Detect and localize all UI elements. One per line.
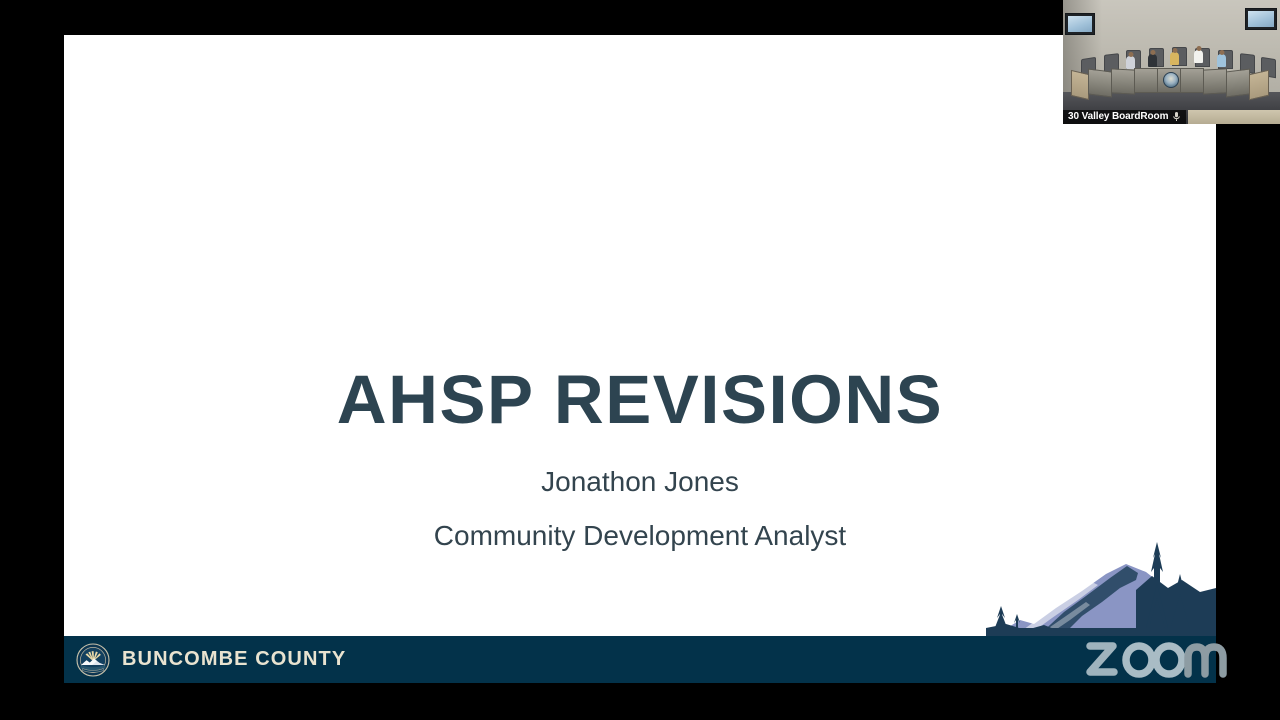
county-seal-icon xyxy=(76,643,110,677)
participant-video-thumbnail[interactable]: 30 Valley BoardRoom xyxy=(1063,0,1280,124)
shared-screen-slide[interactable]: AHSP REVISIONS Jonathon Jones Community … xyxy=(64,35,1216,683)
dais-segment xyxy=(1088,69,1112,98)
seated-person xyxy=(1170,52,1179,65)
dais-segment xyxy=(1226,69,1250,98)
dais-segment xyxy=(1203,68,1227,94)
slide-text-block: AHSP REVISIONS Jonathon Jones Community … xyxy=(64,365,1216,550)
letterbox-top xyxy=(64,0,1063,35)
dais-segment xyxy=(1111,68,1135,94)
presenter-role: Community Development Analyst xyxy=(64,522,1216,550)
participant-name-text: 30 Valley BoardRoom xyxy=(1068,111,1168,122)
slide-content-area: AHSP REVISIONS Jonathon Jones Community … xyxy=(64,35,1216,636)
participant-name-label: 30 Valley BoardRoom xyxy=(1063,110,1186,124)
letterbox-left xyxy=(0,0,64,720)
organization-name: BUNCOMBE COUNTY xyxy=(122,648,346,671)
wall-monitor-right xyxy=(1245,8,1277,30)
zoom-meeting-window: AHSP REVISIONS Jonathon Jones Community … xyxy=(0,0,1280,720)
dais-county-seal xyxy=(1163,72,1179,88)
slide-footer-bar: BUNCOMBE COUNTY xyxy=(64,636,1216,683)
seated-person xyxy=(1217,54,1226,67)
presenter-name: Jonathon Jones xyxy=(64,468,1216,496)
dais-end-right xyxy=(1249,70,1269,101)
wall-monitor-left xyxy=(1065,13,1095,35)
letterbox-bottom xyxy=(0,683,1280,720)
seated-person xyxy=(1194,50,1203,63)
dais-segment xyxy=(1180,68,1204,93)
page-title: AHSP REVISIONS xyxy=(64,365,1216,434)
seated-person xyxy=(1148,54,1157,67)
microphone-icon xyxy=(1172,111,1181,122)
dais-end-left xyxy=(1071,70,1089,100)
letterbox-right xyxy=(1216,124,1280,720)
monitor-screen xyxy=(1068,16,1092,32)
video-feed xyxy=(1063,0,1280,124)
dais-segment xyxy=(1134,68,1158,93)
foreground-table xyxy=(1188,110,1280,124)
monitor-screen xyxy=(1248,11,1274,27)
